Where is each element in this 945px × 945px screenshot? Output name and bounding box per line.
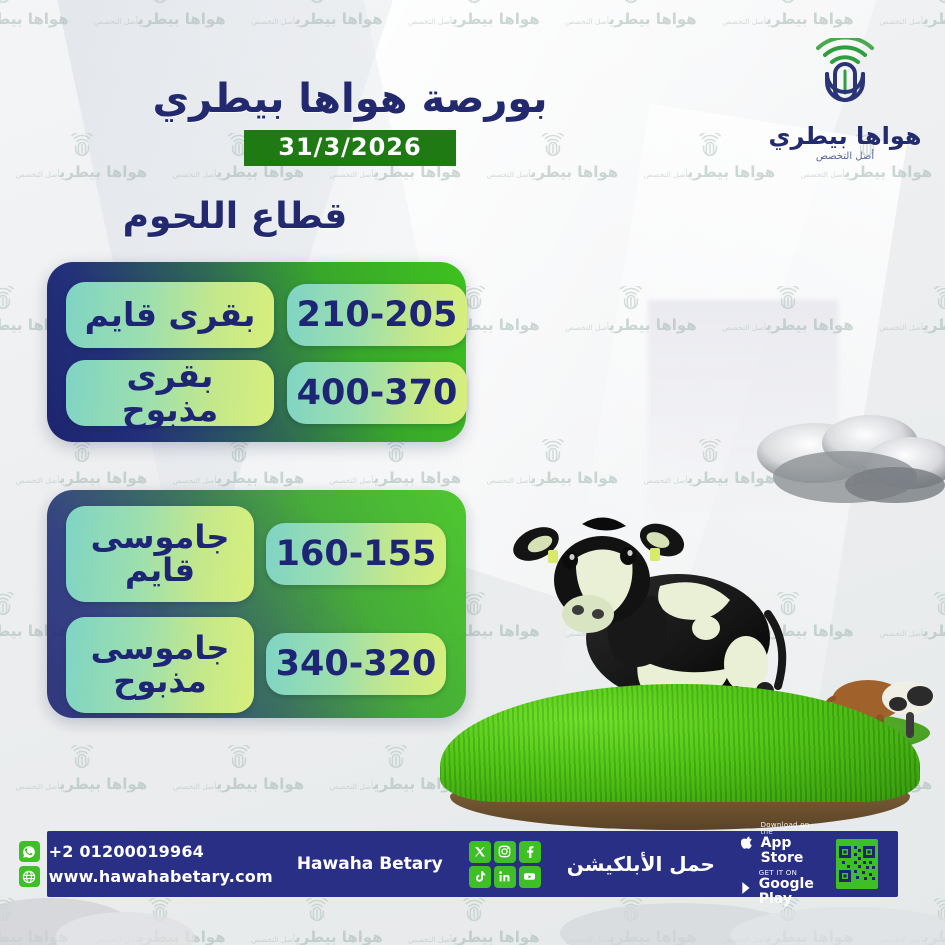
apple-icon	[741, 833, 755, 854]
date-badge: 31/3/2026	[244, 130, 455, 166]
price-value-beef-slaughtered: 400-370	[287, 362, 467, 424]
section-heading: قطاع اللحوم	[0, 196, 470, 237]
price-value-buffalo-live: 160-155	[266, 523, 446, 585]
price-row-buffalo-slaughtered: 340-320 جاموسى مذبوح	[66, 617, 446, 713]
price-label-beef-live: بقرى قايم	[66, 282, 274, 348]
app-store-title: App Store	[761, 836, 820, 865]
brand-logo: هواها بيطري أصل التخصص	[760, 38, 930, 162]
download-app-cta: حمل الأبلكيشن	[567, 852, 715, 876]
price-label-line1: جاموسى	[91, 632, 230, 665]
cow-scene	[430, 430, 945, 830]
poster-canvas: هواها بيطريأصل التخصصهواها بيطريأصل التخ…	[0, 0, 945, 945]
google-play-title: Google Play	[759, 877, 820, 906]
price-row-beef-slaughtered: 400-370 بقرى مذبوح	[66, 360, 467, 426]
globe-icon	[19, 866, 40, 887]
youtube-icon[interactable]	[519, 866, 541, 888]
contact-block: +2 01200019964 www.hawahabetary.com	[19, 841, 273, 887]
website-url: www.hawahabetary.com	[49, 867, 273, 886]
tiktok-icon[interactable]	[469, 866, 491, 888]
header: بورصة هواها بيطري 31/3/2026	[0, 78, 700, 166]
logo-name: هواها بيطري	[760, 122, 930, 150]
google-play-subtitle: GET IT ON	[759, 870, 820, 877]
google-play-icon	[741, 878, 753, 898]
price-label-beef-slaughtered: بقرى مذبوح	[66, 360, 274, 426]
phone-number: +2 01200019964	[49, 842, 204, 861]
price-label-line1: جاموسى	[91, 521, 230, 554]
brand-name-en: Hawaha Betary	[297, 854, 443, 874]
instagram-icon[interactable]	[494, 841, 516, 863]
whatsapp-icon	[19, 841, 40, 862]
app-store-subtitle: Download on the	[761, 822, 820, 837]
price-label-line2: قايم	[125, 554, 195, 587]
app-store-badge[interactable]: Download on the App Store	[741, 822, 820, 866]
price-row-beef-live: 210-205 بقرى قايم	[66, 282, 467, 348]
price-value-beef-live: 210-205	[287, 284, 467, 346]
price-value-buffalo-slaughtered: 340-320	[266, 633, 446, 695]
price-row-buffalo-live: 160-155 جاموسى قايم	[66, 506, 446, 602]
footer-bar: Download on the App Store GET IT ON Goog…	[47, 831, 898, 897]
google-play-badge[interactable]: GET IT ON Google Play	[741, 870, 820, 907]
price-label-line2: مذبوح	[113, 665, 206, 698]
logo-tagline: أصل التخصص	[760, 151, 930, 162]
website-row[interactable]: www.hawahabetary.com	[19, 866, 273, 887]
facebook-icon[interactable]	[519, 841, 541, 863]
price-label-buffalo-slaughtered: جاموسى مذبوح	[66, 617, 254, 713]
phone-row[interactable]: +2 01200019964	[19, 841, 273, 862]
app-store-badges: Download on the App Store GET IT ON Goog…	[741, 822, 820, 907]
page-title: بورصة هواها بيطري	[0, 78, 700, 120]
qr-code[interactable]	[836, 839, 878, 889]
linkedin-icon[interactable]	[494, 866, 516, 888]
fingerprint-signal-icon	[799, 38, 891, 116]
x-twitter-icon[interactable]	[469, 841, 491, 863]
price-label-buffalo-live: جاموسى قايم	[66, 506, 254, 602]
qr-code-icon	[836, 843, 878, 885]
social-links	[469, 841, 541, 888]
